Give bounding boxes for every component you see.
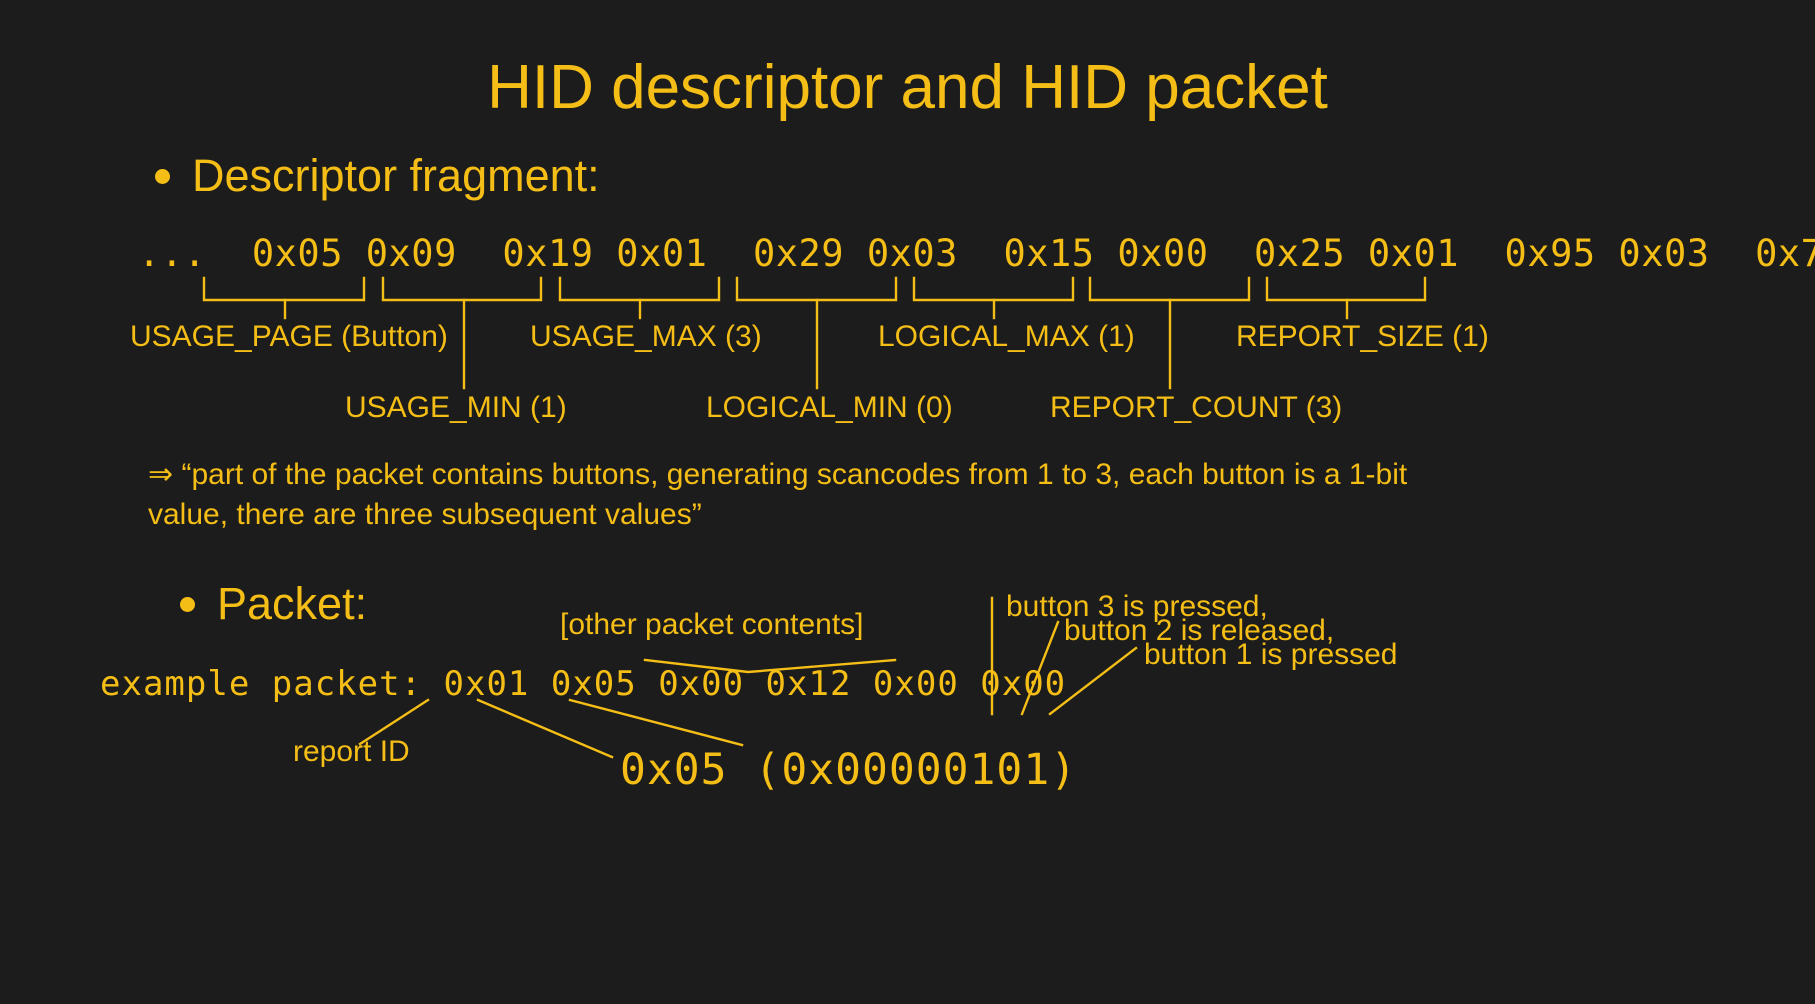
bracket-logical-max bbox=[914, 278, 1073, 300]
bullet-dot-icon bbox=[155, 169, 170, 184]
bracket-usage-min bbox=[383, 278, 541, 300]
field-label-report-size: REPORT_SIZE (1) bbox=[1236, 320, 1489, 354]
bullet-descriptor-fragment: Descriptor fragment: bbox=[155, 150, 600, 202]
descriptor-explanation-text: ⇒ “part of the packet contains buttons, … bbox=[148, 455, 1448, 535]
field-label-usage-page: USAGE_PAGE (Button) bbox=[130, 320, 448, 354]
bullet-dot-icon bbox=[180, 597, 195, 612]
slide-root: HID descriptor and HID packet Descriptor… bbox=[0, 0, 1815, 1004]
packet-byte-binary-expansion: 0x05 (0x00000101) bbox=[620, 745, 1077, 795]
bullet-descriptor-label: Descriptor fragment: bbox=[192, 150, 600, 202]
note-other-packet-contents: [other packet contents] bbox=[560, 608, 864, 642]
leader-byte-0x05-right bbox=[570, 700, 742, 745]
bracket-report-size bbox=[1267, 278, 1425, 300]
bullet-packet: Packet: bbox=[180, 578, 367, 630]
leader-byte-0x05-left bbox=[478, 700, 612, 757]
bracket-usage-page bbox=[204, 278, 364, 300]
bracket-report-count bbox=[1090, 278, 1249, 300]
bullet-packet-label: Packet: bbox=[217, 578, 367, 630]
descriptor-hex-row: ... 0x05 0x09 0x19 0x01 0x29 0x03 0x15 0… bbox=[138, 232, 1815, 275]
example-packet-row: example packet: 0x01 0x05 0x00 0x12 0x00… bbox=[100, 664, 1066, 704]
field-label-logical-min: LOGICAL_MIN (0) bbox=[706, 391, 953, 425]
field-label-logical-max: LOGICAL_MAX (1) bbox=[878, 320, 1135, 354]
note-report-id: report ID bbox=[293, 735, 410, 769]
note-button-1: button 1 is pressed bbox=[1144, 638, 1398, 672]
bracket-usage-max bbox=[560, 278, 719, 300]
field-label-report-count: REPORT_COUNT (3) bbox=[1050, 391, 1342, 425]
field-label-usage-max: USAGE_MAX (3) bbox=[530, 320, 762, 354]
field-label-usage-min: USAGE_MIN (1) bbox=[345, 391, 567, 425]
bracket-logical-min bbox=[737, 278, 896, 300]
page-title: HID descriptor and HID packet bbox=[0, 52, 1815, 123]
